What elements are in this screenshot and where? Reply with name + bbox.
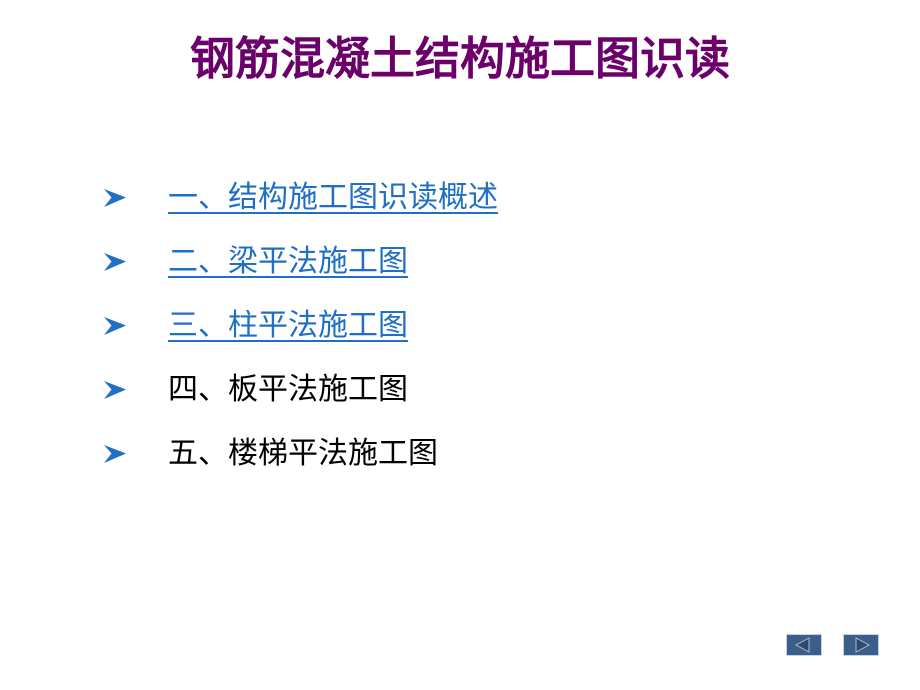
list-item[interactable]: 一、结构施工图识读概述 [96, 166, 856, 230]
slide-canvas: 钢筋混凝土结构施工图识读 一、结构施工图识读概述 二、梁平法施工图 [0, 0, 920, 690]
triangle-left-icon [793, 637, 815, 653]
agenda-item-label[interactable]: 一、结构施工图识读概述 [168, 178, 498, 218]
list-item[interactable]: 三、柱平法施工图 [96, 294, 856, 358]
agenda-item-label: 五、楼梯平法施工图 [168, 434, 438, 474]
agenda-item-label: 四、板平法施工图 [168, 370, 408, 410]
navigation-controls [786, 634, 880, 658]
arrowhead-bullet-icon [101, 184, 129, 212]
agenda-item-label[interactable]: 三、柱平法施工图 [168, 306, 408, 346]
previous-slide-button[interactable] [786, 634, 822, 656]
list-item[interactable]: 二、梁平法施工图 [96, 230, 856, 294]
list-item[interactable]: 五、楼梯平法施工图 [96, 422, 856, 486]
agenda-item-label[interactable]: 二、梁平法施工图 [168, 242, 408, 282]
page-title: 钢筋混凝土结构施工图识读 [0, 30, 920, 88]
next-slide-button[interactable] [843, 634, 879, 656]
list-item[interactable]: 四、板平法施工图 [96, 358, 856, 422]
arrowhead-bullet-icon [101, 312, 129, 340]
arrowhead-bullet-icon [101, 440, 129, 468]
arrowhead-bullet-icon [101, 248, 129, 276]
agenda-list: 一、结构施工图识读概述 二、梁平法施工图 三、柱平法施工图 [96, 166, 856, 486]
triangle-right-icon [850, 637, 872, 653]
arrowhead-bullet-icon [101, 376, 129, 404]
